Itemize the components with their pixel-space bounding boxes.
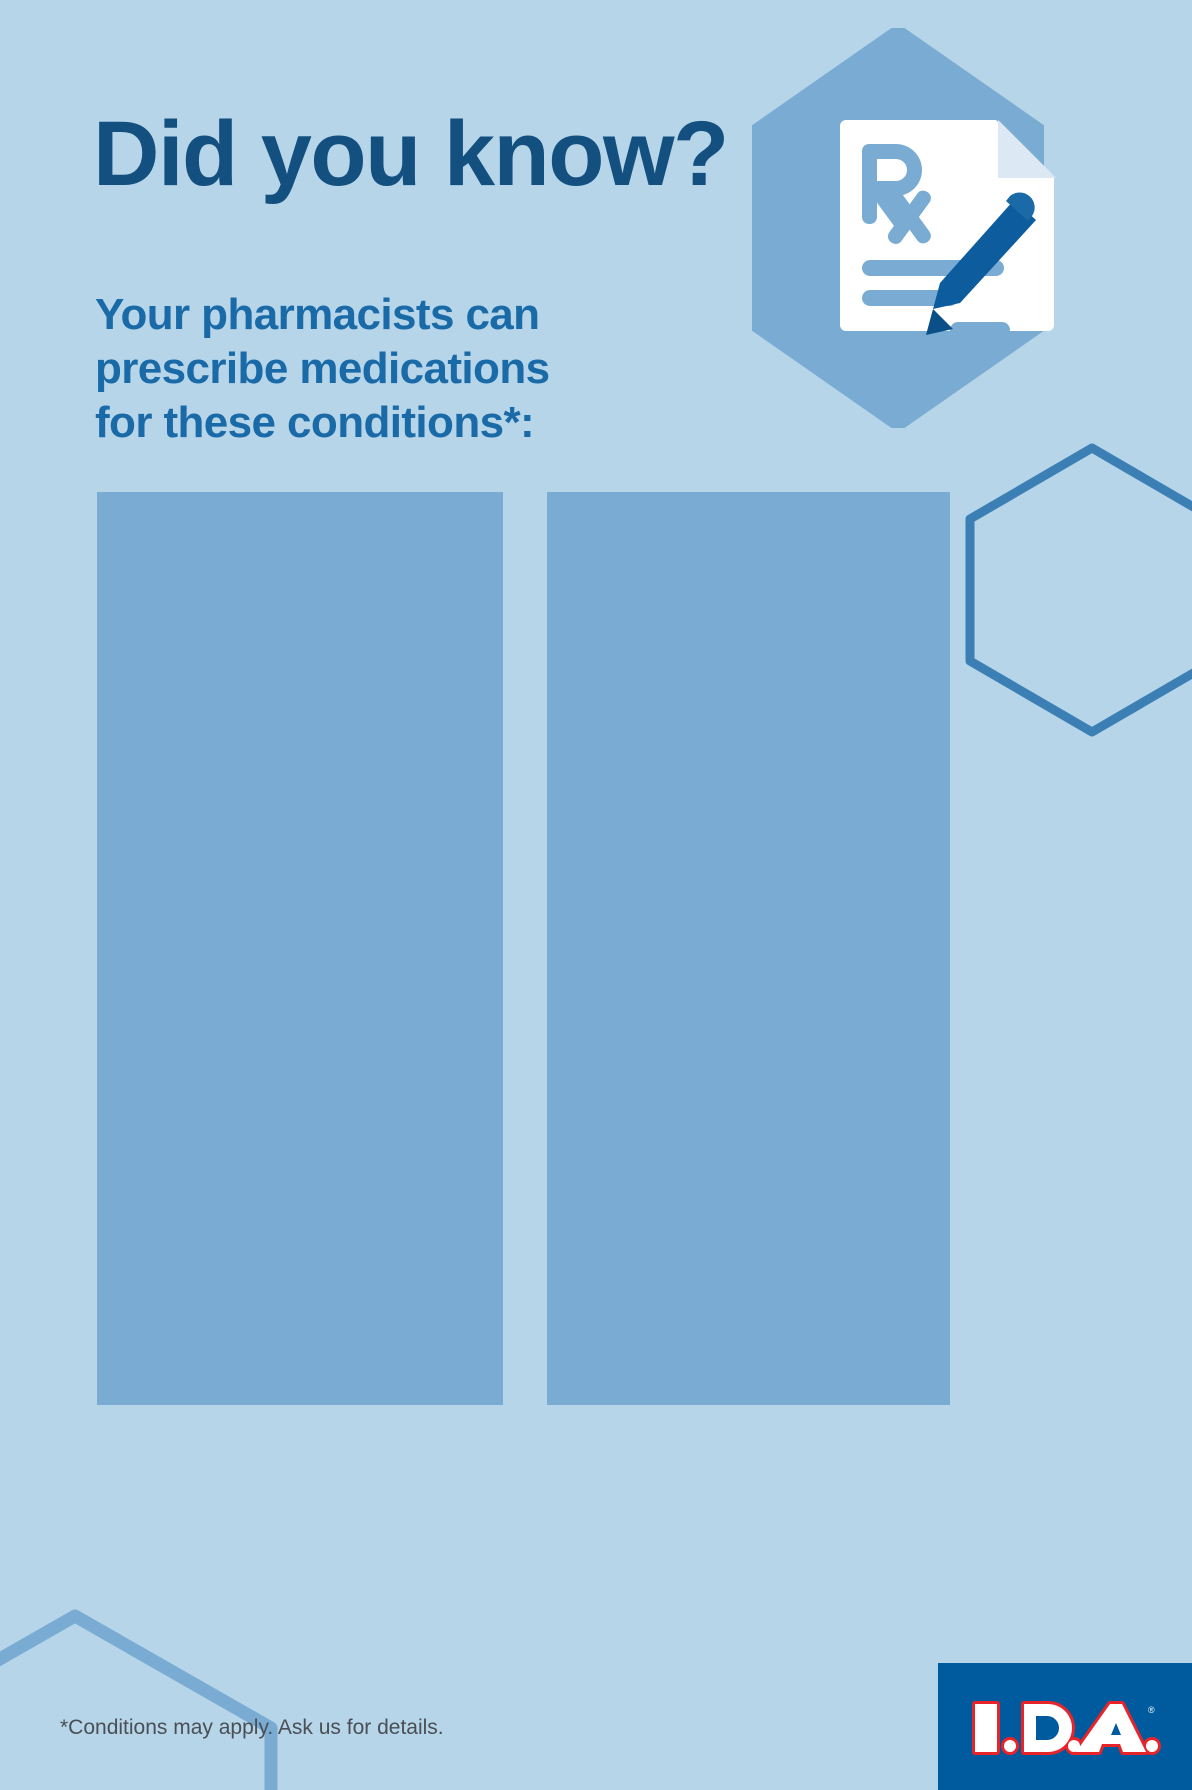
footnote-text: *Conditions may apply. Ask us for detail… <box>60 1716 444 1740</box>
rx-prescription-document-icon <box>840 110 1060 335</box>
page-title: Did you know? <box>93 108 728 200</box>
subtitle-line-2: prescribe medications <box>95 342 549 396</box>
registered-mark: ® <box>1148 1705 1155 1715</box>
conditions-panel-left <box>97 492 503 1405</box>
ida-logo: ® <box>938 1663 1192 1790</box>
hexagon-outline-right-icon <box>962 440 1192 740</box>
conditions-panel-right <box>547 492 950 1405</box>
hexagon-outline-bottom-left-icon <box>0 1608 285 1790</box>
ida-logo-mark: ® <box>970 1699 1162 1757</box>
subtitle: Your pharmacists can prescribe medicatio… <box>95 288 549 450</box>
poster-canvas: Did you know? Your pharmacists can presc… <box>0 0 1192 1790</box>
subtitle-line-1: Your pharmacists can <box>95 288 549 342</box>
subtitle-line-3: for these conditions*: <box>95 396 549 450</box>
